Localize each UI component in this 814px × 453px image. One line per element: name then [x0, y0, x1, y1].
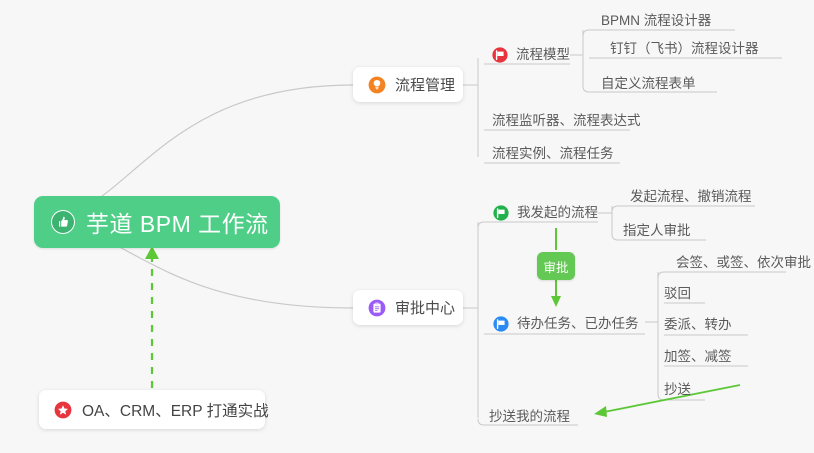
node-label: 指定人审批 [623, 223, 691, 238]
root-node[interactable]: 芋道 BPM 工作流 [34, 196, 280, 248]
node-label: 抄送我的流程 [489, 409, 570, 424]
node-label: 流程模型 [516, 48, 570, 62]
node-label: 我发起的流程 [517, 206, 598, 220]
bottom-card-label: OA、CRM、ERP 打通实战 [82, 399, 269, 421]
branch-process-management[interactable]: 流程管理 [353, 67, 463, 102]
node-label: 流程监听器、流程表达式 [492, 113, 641, 128]
node-label: 待办任务、已办任务 [517, 317, 639, 331]
approval-badge: 审批 [537, 252, 575, 280]
node-process-model[interactable]: 流程模型 [492, 47, 570, 63]
badge-label: 审批 [543, 257, 568, 276]
branch-label: 流程管理 [395, 74, 455, 95]
branch-label: 审批中心 [395, 297, 455, 318]
node-label: 委派、转办 [664, 317, 732, 332]
red-flag-icon [492, 47, 508, 63]
node-delegate-transfer[interactable]: 委派、转办 [664, 318, 732, 332]
node-label: 驳回 [664, 286, 691, 301]
node-todo-done-tasks[interactable]: 待办任务、已办任务 [493, 316, 639, 332]
mindmap-canvas: 芋道 BPM 工作流 流程管理 流程模型 BPMN 流程设计器 钉钉（飞书）流程 [0, 0, 814, 453]
node-process-instance-task[interactable]: 流程实例、流程任务 [492, 147, 614, 161]
node-start-cancel-process[interactable]: 发起流程、撤销流程 [630, 190, 752, 204]
node-label: 加签、减签 [664, 349, 732, 364]
lightbulb-pin-icon [368, 76, 386, 94]
clipboard-icon [368, 299, 386, 317]
node-countersign-or-sequential[interactable]: 会签、或签、依次审批 [676, 256, 811, 270]
blue-flag-icon [493, 316, 509, 332]
bottom-card-integration[interactable]: OA、CRM、ERP 打通实战 [39, 390, 265, 429]
node-process-listener-expression[interactable]: 流程监听器、流程表达式 [492, 114, 641, 128]
root-label: 芋道 BPM 工作流 [86, 205, 269, 239]
green-flag-icon [493, 205, 509, 221]
branch-approval-center[interactable]: 审批中心 [353, 290, 463, 325]
node-label: 自定义流程表单 [601, 76, 696, 91]
node-add-remove-sign[interactable]: 加签、减签 [664, 350, 732, 364]
node-bpmn-designer[interactable]: BPMN 流程设计器 [601, 14, 711, 28]
node-assignee-approval[interactable]: 指定人审批 [623, 224, 691, 238]
red-star-icon [54, 401, 72, 419]
thumbs-up-icon [51, 210, 75, 234]
node-label: 抄送 [664, 382, 691, 397]
node-label: BPMN 流程设计器 [601, 13, 711, 28]
node-label: 流程实例、流程任务 [492, 146, 614, 161]
node-label: 会签、或签、依次审批 [676, 255, 811, 270]
node-label: 钉钉（飞书）流程设计器 [610, 41, 759, 56]
node-label: 发起流程、撤销流程 [630, 189, 752, 204]
node-dingtalk-feishu-designer[interactable]: 钉钉（飞书）流程设计器 [610, 42, 759, 56]
node-custom-process-form[interactable]: 自定义流程表单 [601, 77, 696, 91]
node-cc[interactable]: 抄送 [664, 383, 691, 397]
node-my-initiated-process[interactable]: 我发起的流程 [493, 205, 598, 221]
node-cc-to-me-process[interactable]: 抄送我的流程 [489, 410, 570, 424]
node-reject[interactable]: 驳回 [664, 287, 691, 301]
